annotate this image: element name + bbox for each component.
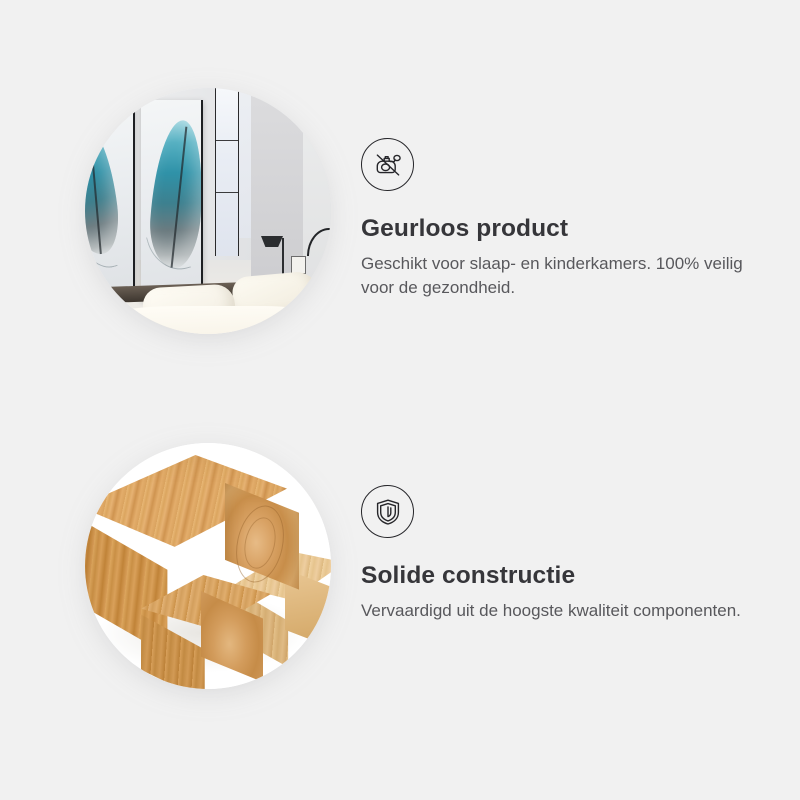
feature-description: Vervaardigd uit de hoogste kwaliteit com… xyxy=(361,590,746,623)
feature-block-odourless: Geurloos product Geschikt voor slaap- en… xyxy=(0,53,800,408)
feature-image-odourless xyxy=(85,88,331,334)
no-fragrance-glyph xyxy=(371,148,405,182)
feature-title: Geurloos product xyxy=(361,191,761,243)
feature-description: Geschikt voor slaap- en kinderkamers. 10… xyxy=(361,243,746,300)
no-fragrance-icon xyxy=(361,138,414,191)
feature-block-solid-construction: Solide constructie Vervaardigd uit de ho… xyxy=(0,408,800,763)
bedroom-feather-wall-art-photo xyxy=(85,88,331,334)
art-panel-left xyxy=(85,100,135,290)
feature-text-solid-construction: Solide constructie Vervaardigd uit de ho… xyxy=(361,408,761,623)
feature-title: Solide constructie xyxy=(361,538,761,590)
shield-glyph xyxy=(372,496,404,528)
feature-image-solid-construction xyxy=(85,443,331,689)
circular-image-frame xyxy=(85,88,331,334)
product-features-page: Geurloos product Geschikt voor slaap- en… xyxy=(0,0,800,800)
art-panel-middle xyxy=(141,100,203,300)
shield-icon xyxy=(361,485,414,538)
circular-image-frame xyxy=(85,443,331,689)
wooden-beams-photo xyxy=(85,443,331,689)
feature-text-odourless: Geurloos product Geschikt voor slaap- en… xyxy=(361,53,761,300)
